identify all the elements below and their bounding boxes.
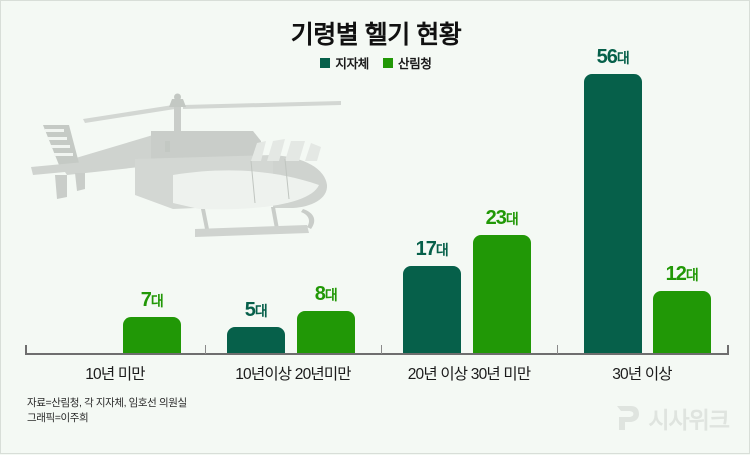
bar-group4-forest-service[interactable] xyxy=(653,291,711,353)
bar-value-number: 8 xyxy=(315,283,325,305)
axis-tick-end xyxy=(727,345,729,354)
bar-group3-forest-service[interactable] xyxy=(473,235,531,353)
x-axis-label-group4: 30년 이상 xyxy=(542,362,742,384)
infographic-frame: 기령별 헬기 현황 지자체 산림청 xyxy=(0,0,750,454)
bar-value-group1-forest-service: 7대 xyxy=(92,289,212,312)
bar-value-unit: 대 xyxy=(506,211,518,227)
axis-tick-3 xyxy=(557,345,558,354)
bar-group1-forest-service[interactable] xyxy=(123,317,181,353)
watermark-text: 시사위크 xyxy=(648,401,729,435)
bar-value-number: 7 xyxy=(141,289,151,311)
chart-plot-area: 7대 5대 8대 17대 23대 56대 12대 10년 미만 10 xyxy=(1,1,750,455)
bar-value-number: 5 xyxy=(245,299,255,321)
watermark: 시사위크 xyxy=(612,401,729,435)
axis-tick-start xyxy=(25,345,27,354)
bar-group2-local-gov[interactable] xyxy=(227,327,285,353)
bar-value-unit: 대 xyxy=(436,242,448,258)
x-axis-label-group3: 20년 이상 30년 미만 xyxy=(369,362,569,384)
axis-tick-1 xyxy=(205,345,206,354)
bar-value-number: 12 xyxy=(666,263,686,285)
bar-value-group3-forest-service: 23대 xyxy=(442,207,562,230)
bar-value-group2-forest-service: 8대 xyxy=(266,283,386,306)
sisaweek-logo-icon xyxy=(612,403,642,433)
bar-value-unit: 대 xyxy=(151,293,163,309)
bar-group2-forest-service[interactable] xyxy=(297,311,355,353)
bar-group4-local-gov[interactable] xyxy=(584,74,642,353)
bar-value-number: 23 xyxy=(486,207,506,229)
bar-value-unit: 대 xyxy=(686,267,698,283)
bar-value-number: 17 xyxy=(416,238,436,260)
source-note: 자료=산림청, 각 지자체, 임호선 의원실 그래픽=이주희 xyxy=(27,396,187,426)
bar-value-group4-local-gov: 56대 xyxy=(553,46,673,69)
source-line-1: 자료=산림청, 각 지자체, 임호선 의원실 xyxy=(27,396,187,411)
x-axis-label-group1: 10년 미만 xyxy=(15,362,215,384)
x-axis-line xyxy=(25,353,729,355)
bar-value-unit: 대 xyxy=(325,287,337,303)
x-axis-label-group2: 10년이상 20년미만 xyxy=(193,362,393,384)
axis-tick-2 xyxy=(381,345,382,354)
bar-group3-local-gov[interactable] xyxy=(403,266,461,353)
bar-value-number: 56 xyxy=(597,46,617,68)
source-line-2: 그래픽=이주희 xyxy=(27,411,187,426)
bar-value-group4-forest-service: 12대 xyxy=(622,263,742,286)
bar-value-unit: 대 xyxy=(617,50,629,66)
